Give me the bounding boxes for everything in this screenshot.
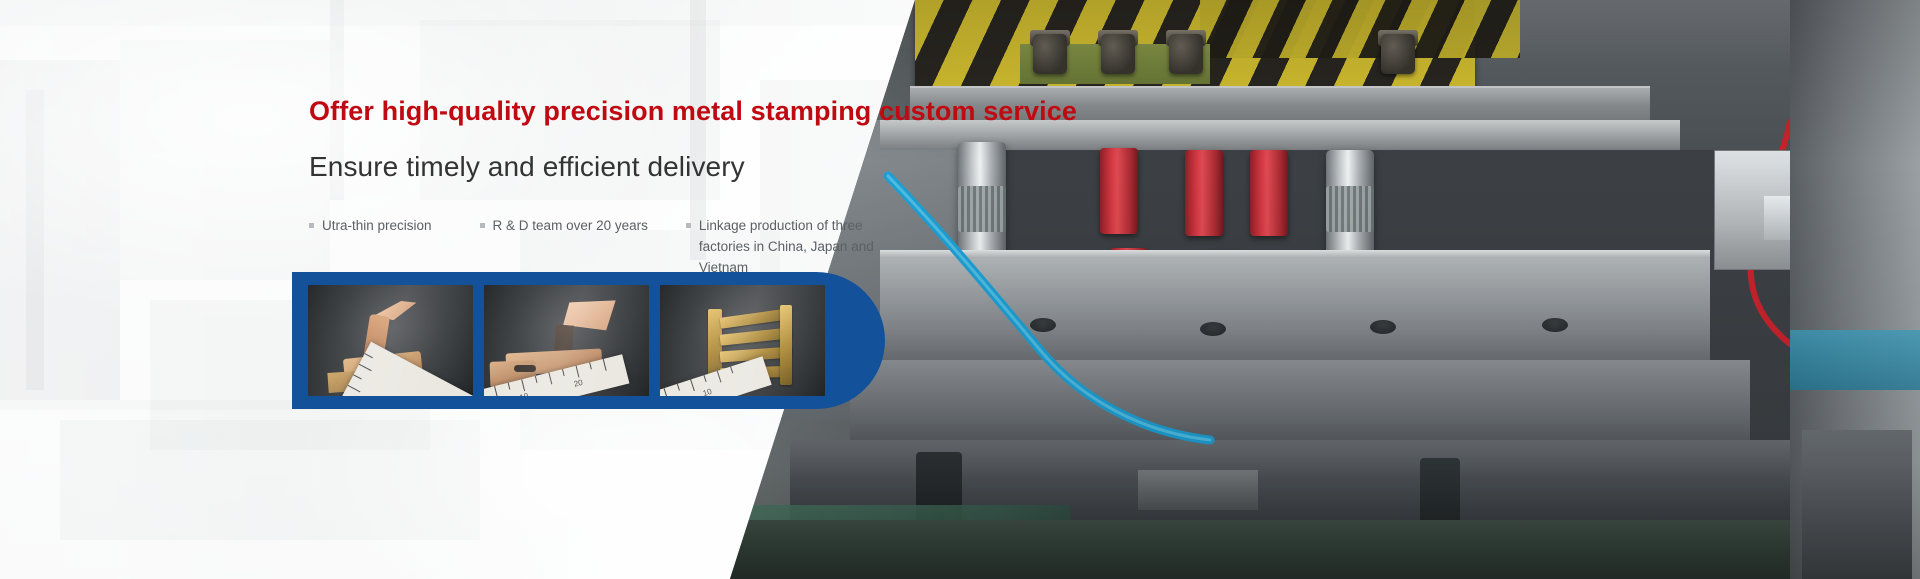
feature-item-2: R & D team over 20 years xyxy=(480,215,648,236)
product-thumbnail[interactable] xyxy=(308,285,473,396)
hero-banner: Offer high-quality precision metal stamp… xyxy=(0,0,1920,579)
product-thumbnail[interactable]: 10 xyxy=(660,285,825,396)
machine-photo xyxy=(730,0,1920,579)
page-subtitle: Ensure timely and efficient delivery xyxy=(309,151,745,183)
feature-label: Utra-thin precision xyxy=(322,215,432,236)
product-thumbnail-list: 10 20 xyxy=(308,285,825,396)
bullet-square-icon xyxy=(480,223,485,228)
bullet-square-icon xyxy=(309,223,314,228)
page-title: Offer high-quality precision metal stamp… xyxy=(309,96,1077,127)
feature-item-1: Utra-thin precision xyxy=(309,215,432,236)
product-thumbnail[interactable]: 10 20 xyxy=(484,285,649,396)
feature-item-3: Linkage production of three factories in… xyxy=(686,215,904,278)
product-showcase-panel: 10 20 xyxy=(292,272,885,409)
feature-list: Utra-thin precision R & D team over 20 y… xyxy=(309,215,904,278)
coolant-hose-icon xyxy=(880,170,1310,460)
feature-label: Linkage production of three factories in… xyxy=(699,215,904,278)
feature-label: R & D team over 20 years xyxy=(493,215,648,236)
bullet-square-icon xyxy=(686,223,691,228)
